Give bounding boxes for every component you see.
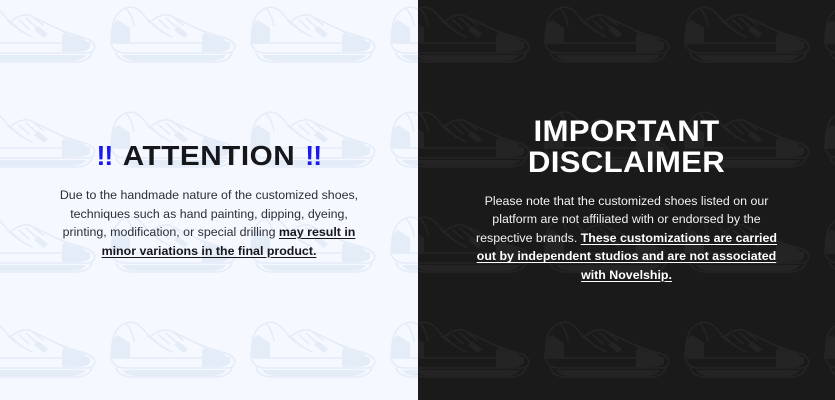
attention-content: !!ATTENTION!! Due to the handmade nature… bbox=[0, 140, 418, 260]
disclaimer-banner: !!ATTENTION!! Due to the handmade nature… bbox=[0, 0, 835, 400]
attention-body: Due to the handmade nature of the custom… bbox=[49, 186, 369, 260]
exclamation-right-icon: !! bbox=[306, 140, 322, 172]
attention-heading: !!ATTENTION!! bbox=[2, 140, 415, 172]
exclamation-left-icon: !! bbox=[96, 140, 112, 172]
disclaimer-content: IMPORTANT DISCLAIMER Please note that th… bbox=[418, 116, 835, 285]
disclaimer-panel: IMPORTANT DISCLAIMER Please note that th… bbox=[418, 0, 835, 400]
disclaimer-heading-line2: DISCLAIMER bbox=[424, 147, 829, 178]
disclaimer-heading: IMPORTANT DISCLAIMER bbox=[424, 116, 829, 178]
disclaimer-heading-line1: IMPORTANT bbox=[534, 115, 720, 148]
attention-panel: !!ATTENTION!! Due to the handmade nature… bbox=[0, 0, 418, 400]
attention-heading-text: ATTENTION bbox=[123, 140, 295, 172]
disclaimer-body: Please note that the customized shoes li… bbox=[466, 192, 788, 285]
